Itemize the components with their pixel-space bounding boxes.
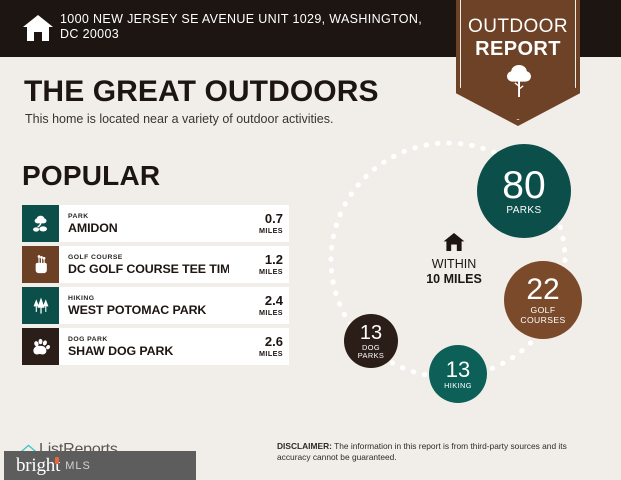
distance-value: 1.2 — [265, 253, 283, 267]
bubble-parks-value: 80 — [502, 166, 545, 205]
distance-unit: MILES — [259, 226, 283, 235]
bubble-golf-value: 22 — [526, 275, 559, 305]
badge-title-line1: OUTDOOR — [456, 16, 580, 38]
within-10-miles-bubble-chart: 80 PARKS 22 GOLF COURSES 13 HIKING 13 DO… — [320, 136, 621, 416]
list-item-distance: 2.6 MILES — [229, 328, 289, 365]
list-item-name: SHAW DOG PARK — [68, 344, 229, 359]
distance-unit: MILES — [259, 308, 283, 317]
badge-title-line2: REPORT — [456, 38, 580, 61]
property-address: 1000 NEW JERSEY SE AVENUE UNIT 1029, WAS… — [60, 12, 432, 42]
list-item-name: WEST POTOMAC PARK — [68, 303, 229, 318]
list-item[interactable]: PARK AMIDON 0.7 MILES — [22, 205, 289, 242]
disclaimer: DISCLAIMER: The information in this repo… — [277, 441, 597, 463]
tree-icon — [506, 64, 532, 98]
list-item-distance: 0.7 MILES — [229, 205, 289, 242]
bright-mls-brand-text: bright — [16, 455, 60, 476]
bright-mls-watermark: bright MLS — [4, 451, 196, 480]
list-item-distance: 1.2 MILES — [229, 246, 289, 283]
golf-bag-icon — [22, 246, 59, 283]
distance-value: 0.7 — [265, 212, 283, 226]
outdoor-report-badge: OUTDOOR REPORT — [456, 0, 580, 126]
bubble-dog-parks[interactable]: 13 DOG PARKS — [344, 314, 398, 368]
list-item-category: HIKING — [68, 294, 229, 303]
disclaimer-label: DISCLAIMER: — [277, 441, 332, 451]
list-item-category: GOLF COURSE — [68, 253, 229, 262]
bright-mls-brand: bright — [16, 455, 60, 477]
pine-trees-icon — [22, 287, 59, 324]
popular-section-heading: POPULAR — [22, 160, 160, 192]
outdoor-report-page: 1000 NEW JERSEY SE AVENUE UNIT 1029, WAS… — [0, 0, 621, 480]
bubble-hiking[interactable]: 13 HIKING — [429, 345, 487, 403]
distance-value: 2.4 — [265, 294, 283, 308]
list-item-category: DOG PARK — [68, 335, 229, 344]
popular-list: PARK AMIDON 0.7 MILES — [22, 205, 289, 369]
list-item-category: PARK — [68, 212, 229, 221]
center-label-line1: WITHIN — [394, 257, 514, 272]
bright-mls-accent-dot — [55, 457, 59, 464]
bubble-dogparks-label-line2: PARKS — [358, 352, 385, 360]
list-item[interactable]: HIKING WEST POTOMAC PARK 2.4 MILES — [22, 287, 289, 324]
list-item-name: DC GOLF COURSE TEE TIME — [68, 262, 229, 277]
park-tree-icon — [22, 205, 59, 242]
center-label-line2: 10 MILES — [394, 272, 514, 287]
bright-mls-suffix: MLS — [65, 460, 91, 472]
distance-unit: MILES — [259, 349, 283, 358]
list-item[interactable]: DOG PARK SHAW DOG PARK 2.6 MILES — [22, 328, 289, 365]
bubble-golf-courses[interactable]: 22 GOLF COURSES — [504, 261, 582, 339]
page-title: THE GREAT OUTDOORS — [24, 75, 379, 109]
distance-unit: MILES — [259, 267, 283, 276]
distance-value: 2.6 — [265, 335, 283, 349]
list-item-name: AMIDON — [68, 221, 229, 236]
list-item-text: HIKING WEST POTOMAC PARK — [59, 287, 229, 324]
bubble-parks[interactable]: 80 PARKS — [477, 144, 571, 238]
bubble-dogparks-value: 13 — [360, 323, 382, 343]
bubble-hiking-value: 13 — [446, 359, 470, 381]
home-icon — [443, 232, 465, 252]
paw-print-icon — [22, 328, 59, 365]
list-item-text: GOLF COURSE DC GOLF COURSE TEE TIME — [59, 246, 229, 283]
page-subtitle: This home is located near a variety of o… — [25, 112, 333, 126]
bubble-hiking-label: HIKING — [444, 382, 472, 390]
home-icon — [22, 13, 54, 43]
list-item-text: DOG PARK SHAW DOG PARK — [59, 328, 229, 365]
diagram-center-label: WITHIN 10 MILES — [394, 232, 514, 287]
list-item-text: PARK AMIDON — [59, 205, 229, 242]
bubble-parks-label: PARKS — [506, 206, 541, 217]
bubble-golf-label-line2: COURSES — [520, 316, 565, 325]
list-item[interactable]: GOLF COURSE DC GOLF COURSE TEE TIME 1.2 … — [22, 246, 289, 283]
list-item-distance: 2.4 MILES — [229, 287, 289, 324]
